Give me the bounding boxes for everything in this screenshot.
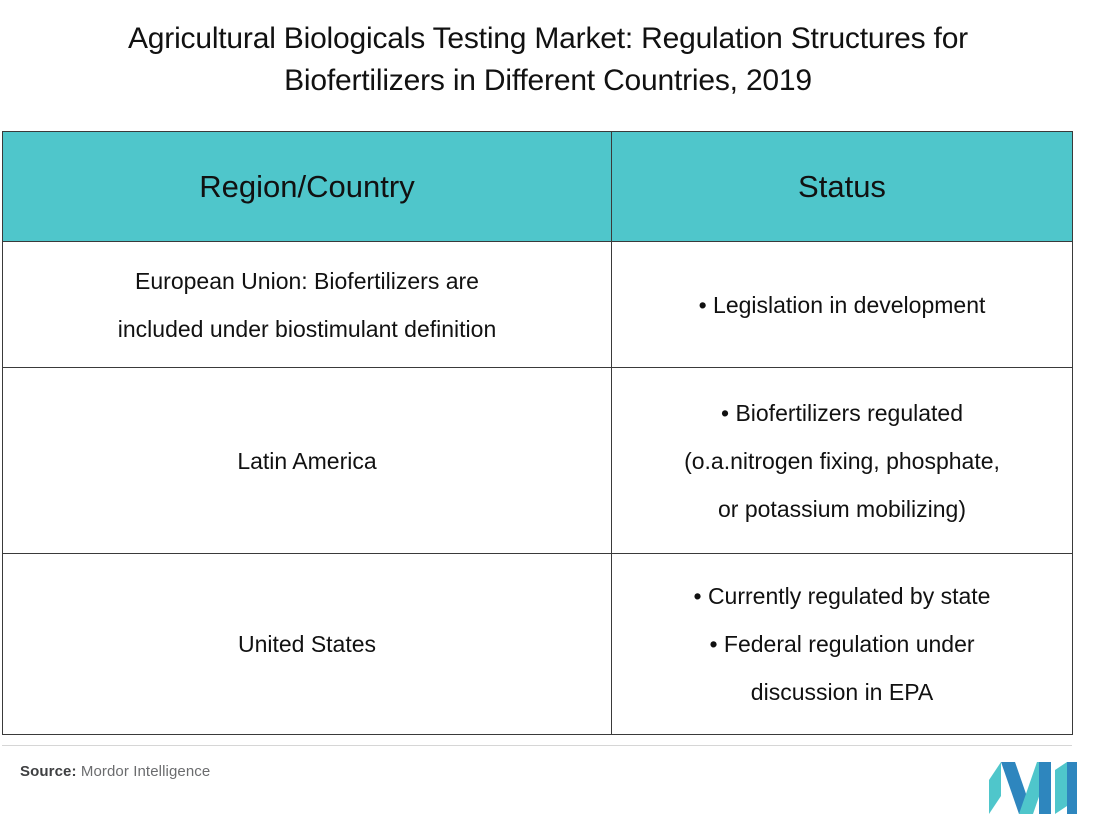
cell-text-line: (o.a.nitrogen fixing, phosphate, bbox=[622, 437, 1062, 485]
column-header-region: Region/Country bbox=[3, 132, 612, 242]
cell-text-line: included under biostimulant definition bbox=[13, 305, 601, 353]
column-header-status: Status bbox=[612, 132, 1073, 242]
page-title: Agricultural Biologicals Testing Market:… bbox=[0, 18, 1096, 102]
cell-text-line: • Federal regulation under bbox=[622, 620, 1062, 668]
source-label: Source: bbox=[20, 763, 77, 780]
table-header-row: Region/Country Status bbox=[3, 132, 1073, 242]
cell-text-line: • Currently regulated by state bbox=[622, 572, 1062, 620]
page-title-line-2: Biofertilizers in Different Countries, 2… bbox=[0, 60, 1096, 102]
cell-region-european-union: European Union: Biofertilizers are inclu… bbox=[3, 242, 612, 368]
cell-region-latin-america: Latin America bbox=[3, 368, 612, 554]
table-row: United States • Currently regulated by s… bbox=[3, 554, 1073, 735]
table-body: European Union: Biofertilizers are inclu… bbox=[3, 242, 1073, 735]
table-row: Latin America • Biofertilizers regulated… bbox=[3, 368, 1073, 554]
logo-mi-monogram-icon bbox=[989, 762, 1077, 814]
table-row: European Union: Biofertilizers are inclu… bbox=[3, 242, 1073, 368]
infographic-table-slide: Agricultural Biologicals Testing Market:… bbox=[0, 0, 1096, 828]
cell-text-line: discussion in EPA bbox=[622, 668, 1062, 716]
cell-status-united-states: • Currently regulated by state • Federal… bbox=[612, 554, 1073, 735]
regulation-table: Region/Country Status European Union: Bi… bbox=[2, 131, 1073, 735]
cell-text-line: • Biofertilizers regulated bbox=[622, 389, 1062, 437]
mordor-intelligence-logo bbox=[989, 762, 1077, 814]
cell-status-latin-america: • Biofertilizers regulated (o.a.nitrogen… bbox=[612, 368, 1073, 554]
table-header: Region/Country Status bbox=[3, 132, 1073, 242]
footer-divider bbox=[2, 745, 1072, 746]
cell-text-line: or potassium mobilizing) bbox=[622, 485, 1062, 533]
cell-status-european-union: • Legislation in development bbox=[612, 242, 1073, 368]
cell-text-line: European Union: Biofertilizers are bbox=[13, 257, 601, 305]
source-caption: Source: Mordor Intelligence bbox=[20, 763, 210, 780]
cell-text-line: • Legislation in development bbox=[622, 281, 1062, 329]
source-value: Mordor Intelligence bbox=[81, 763, 210, 780]
cell-text-line: Latin America bbox=[13, 437, 601, 485]
cell-region-united-states: United States bbox=[3, 554, 612, 735]
page-title-line-1: Agricultural Biologicals Testing Market:… bbox=[0, 18, 1096, 60]
cell-text-line: United States bbox=[13, 620, 601, 668]
regulation-table-container: Region/Country Status European Union: Bi… bbox=[2, 131, 1072, 735]
